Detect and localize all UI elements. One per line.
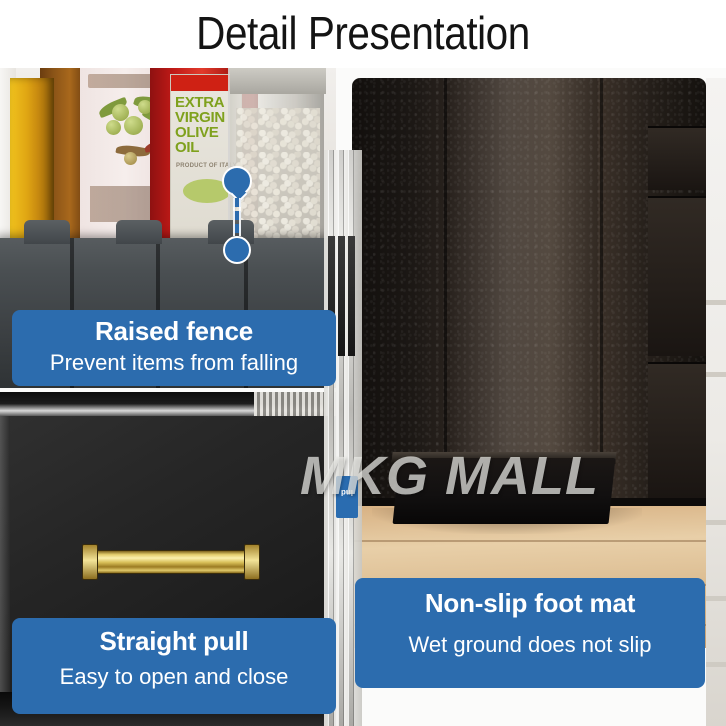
wall-rail — [706, 520, 726, 525]
cabinet-drawer-sliver — [648, 362, 706, 498]
drawer-top-rail — [0, 392, 336, 418]
wall-rail — [706, 596, 726, 601]
caption-title: Raised fence — [12, 318, 336, 345]
caption-subtitle: Wet ground does not slip — [355, 633, 705, 657]
handle-cap-left — [82, 544, 98, 580]
gold-drawer-handle — [82, 544, 260, 580]
non-slip-foot-mat — [393, 458, 616, 524]
leg-seam — [600, 78, 603, 498]
marker-dot-icon — [223, 236, 251, 264]
knife-handle — [338, 236, 345, 356]
caption-straight-pull: Straight pull Easy to open and close — [12, 618, 336, 714]
handle-cap-right — [244, 544, 260, 580]
caption-raised-fence: Raised fence Prevent items from falling — [12, 310, 336, 386]
caption-subtitle: Prevent items from falling — [12, 351, 336, 375]
caption-title: Straight pull — [12, 628, 336, 655]
drawer-left-edge — [0, 416, 10, 702]
fence-height-indicator — [222, 166, 252, 266]
photo-cabinet-leg — [352, 78, 706, 648]
header-bar: Detail Presentation — [0, 0, 726, 68]
knife-handle — [348, 236, 355, 356]
leg-seam — [444, 78, 447, 498]
handle-bar — [82, 550, 260, 574]
marker-dashed-line — [233, 198, 241, 236]
strip-tag-label: Ind — [337, 488, 357, 497]
strip-blue-tag: Ind — [336, 476, 358, 518]
caption-title: Non-slip foot mat — [355, 590, 705, 617]
wall-background-right — [706, 78, 726, 726]
caption-subtitle: Easy to open and close — [12, 665, 336, 689]
jar-lid — [230, 68, 326, 94]
wall-rail — [706, 300, 726, 305]
wall-rail — [706, 662, 726, 667]
cabinet-drawer-sliver — [648, 196, 706, 356]
detail-presentation-page: Detail Presentation — [0, 0, 726, 726]
page-title: Detail Presentation — [44, 6, 683, 60]
caption-non-slip-foot-mat: Non-slip foot mat Wet ground does not sl… — [355, 578, 705, 688]
cabinet-drawer-sliver — [648, 126, 706, 190]
wall-rail — [706, 372, 726, 377]
marker-pin-icon — [222, 166, 252, 196]
